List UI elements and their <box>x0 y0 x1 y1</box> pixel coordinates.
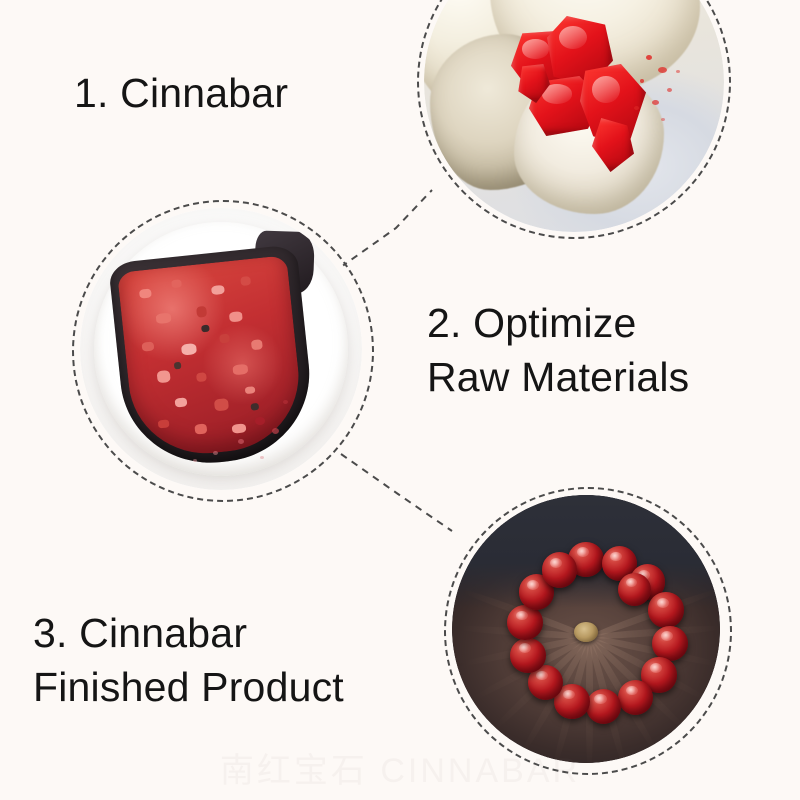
powder-grain <box>232 423 246 434</box>
powder-spill <box>272 428 279 434</box>
powder-grain <box>139 288 152 299</box>
powder-grain <box>170 279 181 288</box>
powder-spill <box>255 417 265 425</box>
powder-grain <box>174 361 182 369</box>
cinnabar-dust <box>676 70 680 73</box>
powder-grain <box>201 324 210 332</box>
step-2-label: 2. Optimize Raw Materials <box>427 296 689 404</box>
cinnabar-powder-photo <box>80 208 362 490</box>
powder-grain <box>245 386 256 395</box>
cinnabar-bracelet-photo <box>452 495 720 763</box>
bracelet-bead <box>648 592 683 627</box>
bracelet-bead <box>507 605 542 640</box>
powder-grain <box>250 403 259 411</box>
powder-grain <box>158 420 169 429</box>
photo-inset-cinnabar-mineral <box>424 0 724 232</box>
powder-grain <box>232 364 248 375</box>
step-3-label: 3. Cinnabar Finished Product <box>33 606 344 714</box>
cinnabar-mineral-photo <box>424 0 724 232</box>
cinnabar-dust <box>661 118 665 121</box>
powder-grain <box>195 372 206 382</box>
powder-grain <box>210 284 224 295</box>
powder-grain <box>155 313 171 324</box>
powder-grain <box>219 333 230 343</box>
powder-grain <box>180 343 196 356</box>
powder-grain <box>174 397 187 408</box>
powder-spill <box>213 451 218 455</box>
powder-grain <box>240 276 251 286</box>
powder-grain <box>195 305 206 317</box>
cinnabar-dust <box>646 55 652 60</box>
step-1-label: 1. Cinnabar <box>74 66 288 120</box>
powder-grain <box>194 423 207 434</box>
cinnabar-dust <box>667 88 672 92</box>
photo-inset-cinnabar-bracelet <box>452 495 720 763</box>
powder-grain <box>214 398 229 411</box>
cinnabar-dust <box>634 106 639 110</box>
bracelet-bead <box>542 552 577 587</box>
infographic-canvas: 1. Cinnabar 2. Optimize Raw Materials 3.… <box>0 0 800 800</box>
cinnabar-dust <box>658 67 667 73</box>
powder-spill <box>193 459 197 462</box>
powder-grain <box>228 311 242 322</box>
powder-grain <box>250 339 263 350</box>
bracelet-bead <box>618 680 653 715</box>
powder-grain <box>156 370 171 383</box>
powder-grain <box>141 341 154 352</box>
cinnabar-dust <box>640 79 644 83</box>
powder-scoop <box>105 215 326 471</box>
photo-inset-cinnabar-powder <box>80 208 362 490</box>
bracelet-bead <box>652 626 687 661</box>
bracelet-bead <box>510 638 545 673</box>
powder-spill <box>283 400 288 404</box>
cinnabar-dust <box>652 100 659 105</box>
